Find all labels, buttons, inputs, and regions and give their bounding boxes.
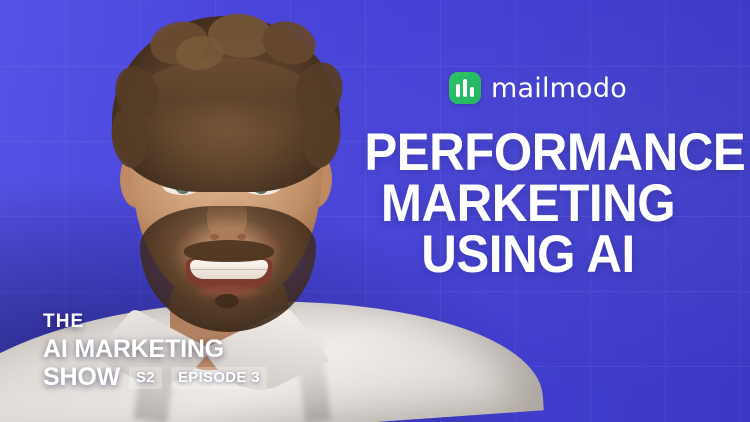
logo-bar xyxy=(463,79,467,97)
show-branding: THE AI MARKETING SHOW S2 EPISODE 3 xyxy=(43,312,267,390)
logo-bar xyxy=(470,87,474,97)
show-name-line-2: SHOW xyxy=(43,365,120,390)
show-name-line-1: AI MARKETING xyxy=(43,336,267,363)
headline-line-1: PERFORMANCE xyxy=(364,128,691,179)
show-name-row: SHOW S2 EPISODE 3 xyxy=(43,365,267,390)
mailmodo-wordmark: mailmodo xyxy=(491,73,627,104)
mailmodo-logo: mailmodo xyxy=(449,72,627,104)
mailmodo-bars-icon xyxy=(449,72,481,104)
headline-line-2: MARKETING xyxy=(364,179,691,230)
page-title: PERFORMANCE MARKETING USING AI xyxy=(364,128,691,281)
teeth-gap-line xyxy=(190,269,268,270)
show-prefix: THE xyxy=(43,312,267,331)
soul-patch xyxy=(215,294,239,308)
season-badge: S2 xyxy=(129,367,162,389)
nostril xyxy=(237,234,246,240)
episode-badge: EPISODE 3 xyxy=(171,367,267,389)
headline-line-3: USING AI xyxy=(364,230,691,281)
presenter-moustache xyxy=(184,240,274,262)
video-thumbnail: mailmodo PERFORMANCE MARKETING USING AI … xyxy=(0,0,750,422)
nostril xyxy=(210,234,219,240)
logo-bar xyxy=(456,84,460,97)
